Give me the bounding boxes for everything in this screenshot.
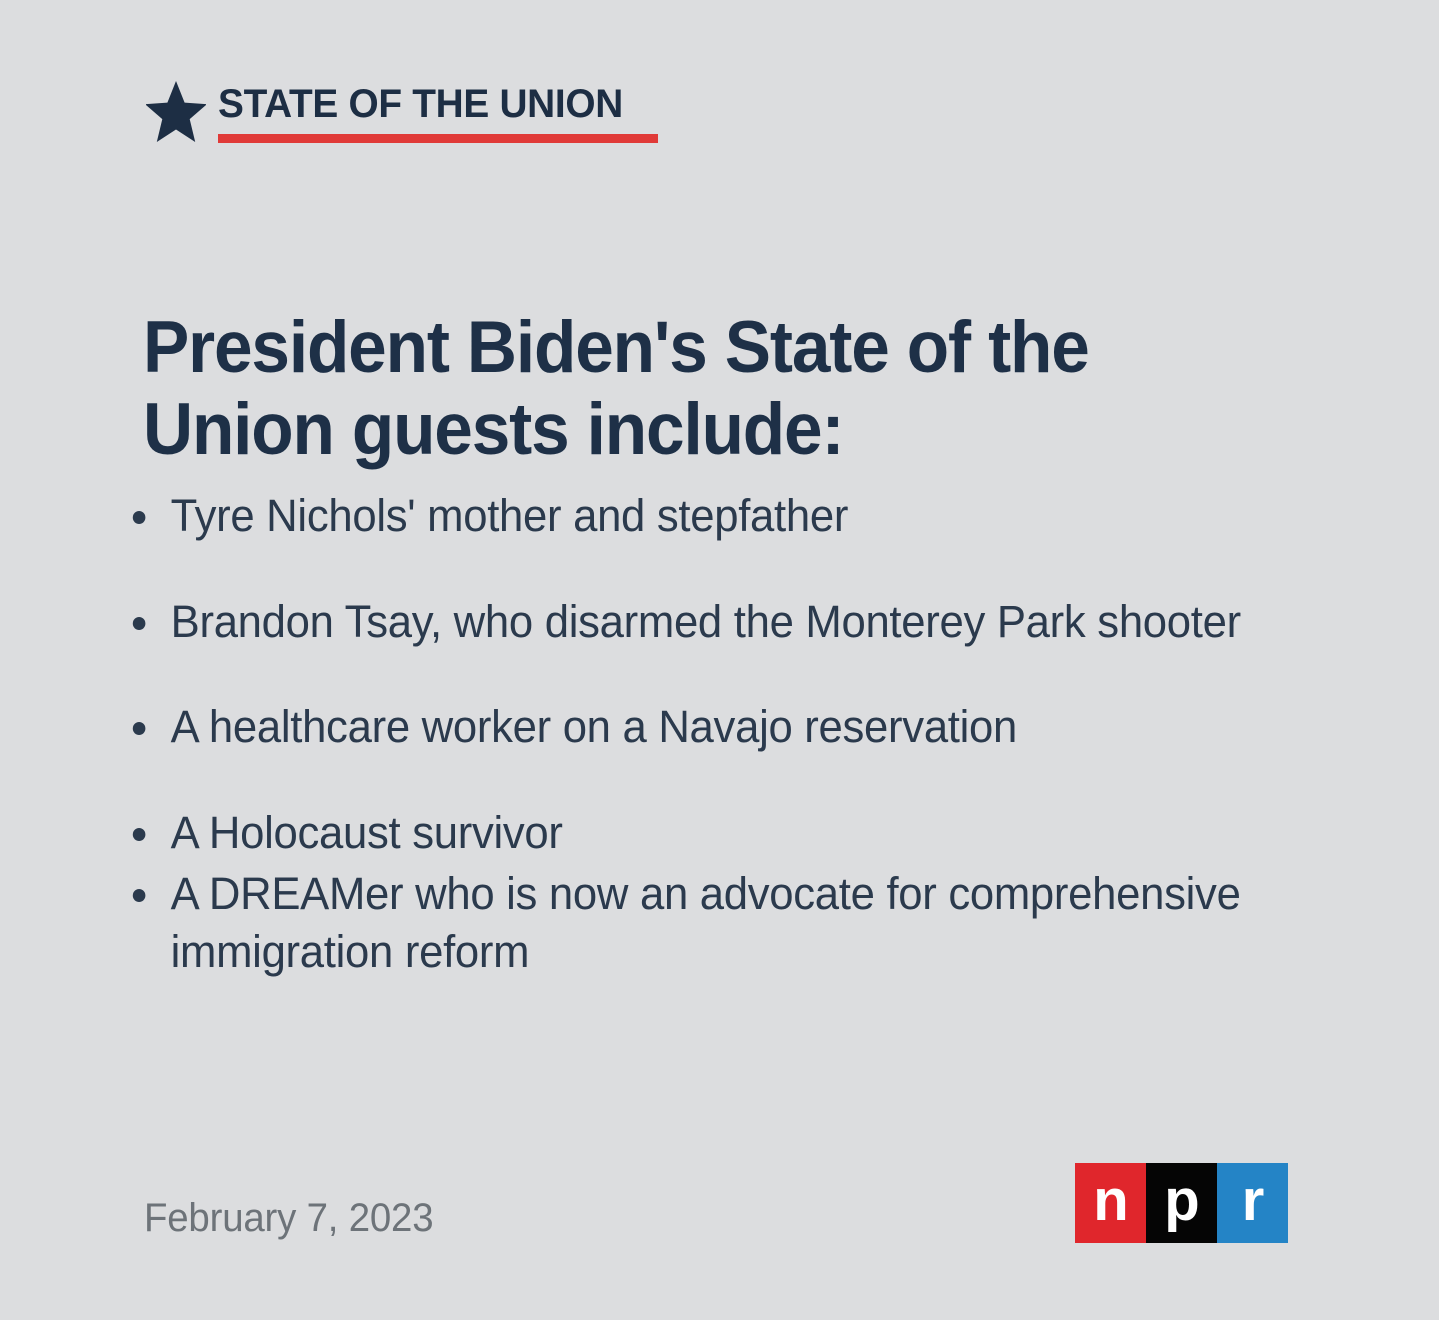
npr-logo: n p r (1075, 1163, 1288, 1243)
bullet-icon (133, 889, 146, 902)
list-item: Tyre Nichols' mother and stepfather (126, 487, 1290, 545)
list-item: A DREAMer who is now an advocate for com… (126, 865, 1290, 980)
bullet-icon (133, 828, 146, 841)
list-item: Brandon Tsay, who disarmed the Monterey … (126, 593, 1290, 651)
npr-logo-letter-p: p (1164, 1172, 1198, 1230)
list-item-label: A Holocaust survivor (171, 807, 563, 858)
npr-logo-letter-r: r (1242, 1172, 1264, 1230)
brand-red-rule (218, 134, 658, 143)
list-item-label: Tyre Nichols' mother and stepfather (171, 490, 848, 541)
publication-date: February 7, 2023 (144, 1196, 433, 1241)
bullet-icon (133, 722, 146, 735)
bullet-icon (133, 511, 146, 524)
brand-title: STATE OF THE UNION (218, 84, 645, 124)
page-title: President Biden's State of the Union gue… (143, 307, 1207, 471)
state-of-the-union-brand: STATE OF THE UNION (146, 78, 658, 146)
npr-logo-cell-r: r (1217, 1163, 1288, 1243)
list-item-label: A DREAMer who is now an advocate for com… (171, 868, 1241, 977)
star-icon (146, 80, 206, 146)
brand-text-block: STATE OF THE UNION (218, 78, 658, 143)
bullet-icon (133, 617, 146, 630)
guest-list: Tyre Nichols' mother and stepfather Bran… (126, 487, 1326, 981)
list-item-label: Brandon Tsay, who disarmed the Monterey … (171, 596, 1241, 647)
list-item: A Holocaust survivor (126, 804, 1290, 862)
npr-logo-cell-p: p (1146, 1163, 1217, 1243)
npr-logo-cell-n: n (1075, 1163, 1146, 1243)
list-item-label: A healthcare worker on a Navajo reservat… (171, 701, 1017, 752)
npr-logo-letter-n: n (1093, 1172, 1127, 1230)
list-item: A healthcare worker on a Navajo reservat… (126, 698, 1290, 756)
